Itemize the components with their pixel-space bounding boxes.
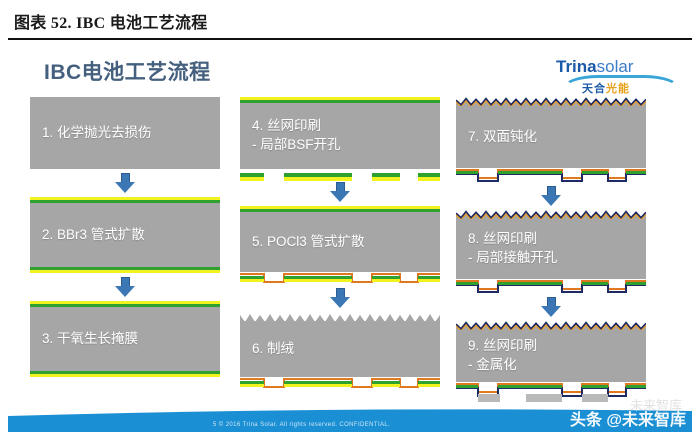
flow-arrow-5 xyxy=(330,288,350,308)
flow-arrow-8 xyxy=(541,297,561,317)
arrow-head xyxy=(115,182,135,193)
wafer-diagram-9: 9. 丝网印刷- 金属化 xyxy=(456,330,646,382)
process-step-5: 5. POCl3 管式扩散 xyxy=(240,206,440,284)
step-label-4: 4. 丝网印刷- 局部BSF开孔 xyxy=(252,117,341,155)
slide-canvas: IBC电池工艺流程 Trinasolar 天合光能 1. 化学抛光去损伤 2. … xyxy=(8,47,692,432)
film-yellow-bottom xyxy=(30,270,220,273)
process-step-8: 8. 丝网印刷- 局部接触开孔 xyxy=(456,210,646,293)
process-step-6: 6. 制绒 xyxy=(240,312,440,389)
logo-wordmark: Trinasolar xyxy=(556,57,633,77)
page-title: 图表 52. IBC 电池工艺流程 xyxy=(14,9,208,33)
step-label-8-line1: 8. 丝网印刷 xyxy=(468,231,537,246)
arrow-head xyxy=(541,306,561,317)
arrow-head xyxy=(115,286,135,297)
step-label-4-line1: 4. 丝网印刷 xyxy=(252,118,321,133)
process-column-1: 1. 化学抛光去损伤 2. BBr3 管式扩散 3. 干氧生长掩膜 xyxy=(30,97,220,377)
openings-svg xyxy=(240,173,440,182)
arrow-head xyxy=(541,195,561,206)
process-step-4: 4. 丝网印刷- 局部BSF开孔 xyxy=(240,97,440,178)
step-label-9-line1: 9. 丝网印刷 xyxy=(468,338,537,353)
process-column-2: 4. 丝网印刷- 局部BSF开孔 xyxy=(240,97,440,389)
rear-layers-svg xyxy=(456,168,646,182)
step-label-5: 5. POCl3 管式扩散 xyxy=(252,232,365,252)
wafer-diagram-6: 6. 制绒 xyxy=(240,321,440,377)
step-label-4-line2: - 局部BSF开孔 xyxy=(252,137,341,152)
flow-arrow-1 xyxy=(115,173,135,193)
metallization-9 xyxy=(456,382,646,402)
slide-title: IBC电池工艺流程 xyxy=(44,56,211,86)
rear-passivation-7 xyxy=(456,168,646,182)
slide-footer-text: 5 © 2016 Trina Solar. All rights reserve… xyxy=(213,422,390,428)
emitter-trenches-5 xyxy=(240,272,440,284)
wafer-diagram-3: 3. 干氧生长掩膜 xyxy=(30,307,220,371)
process-step-9: 9. 丝网印刷- 金属化 xyxy=(456,321,646,402)
contact-openings-8 xyxy=(456,279,646,293)
step-label-1: 1. 化学抛光去损伤 xyxy=(42,123,152,143)
header-divider xyxy=(8,38,692,40)
wafer-diagram-2: 2. BBr3 管式扩散 xyxy=(30,203,220,267)
wafer-diagram-5: 5. POCl3 管式扩散 xyxy=(240,212,440,272)
process-step-1: 1. 化学抛光去损伤 xyxy=(30,97,220,169)
flow-arrow-4 xyxy=(330,182,350,202)
step-label-8: 8. 丝网印刷- 局部接触开孔 xyxy=(468,230,557,268)
wafer-diagram-1: 1. 化学抛光去损伤 xyxy=(30,97,220,169)
process-step-3: 3. 干氧生长掩膜 xyxy=(30,301,220,377)
logo-chinese-second: 光能 xyxy=(606,83,630,95)
process-step-2: 2. BBr3 管式扩散 xyxy=(30,197,220,273)
step-label-3: 3. 干氧生长掩膜 xyxy=(42,329,138,349)
contact-openings-svg xyxy=(456,279,646,293)
arrow-head xyxy=(330,297,350,308)
step-label-8-line2: - 局部接触开孔 xyxy=(468,250,557,265)
step-label-9: 9. 丝网印刷- 金属化 xyxy=(468,337,537,375)
wafer-diagram-4: 4. 丝网印刷- 局部BSF开孔 xyxy=(240,103,440,169)
wafer-diagram-7: 7. 双面钝化 xyxy=(456,106,646,168)
step-label-6: 6. 制绒 xyxy=(252,339,294,359)
watermark: 头条 @未来智库 xyxy=(570,406,686,430)
bsf-openings-4 xyxy=(240,169,440,178)
logo-brand-first: Trina xyxy=(556,57,597,76)
trina-solar-logo: Trinasolar 天合光能 xyxy=(556,55,682,101)
film-yellow-bottom xyxy=(30,374,220,377)
step-label-2: 2. BBr3 管式扩散 xyxy=(42,225,145,245)
metal-pads-svg xyxy=(456,382,646,402)
process-column-3: 7. 双面钝化 xyxy=(456,97,646,402)
wafer-diagram-8: 8. 丝网印刷- 局部接触开孔 xyxy=(456,219,646,279)
arrow-head xyxy=(330,191,350,202)
process-step-7: 7. 双面钝化 xyxy=(456,97,646,182)
trenches-svg xyxy=(240,378,440,390)
flow-arrow-7 xyxy=(541,186,561,206)
logo-chinese-first: 天合 xyxy=(582,83,606,95)
step-label-7: 7. 双面钝化 xyxy=(468,127,537,147)
step-label-9-line2: - 金属化 xyxy=(468,357,517,372)
logo-chinese-name: 天合光能 xyxy=(582,80,630,96)
logo-brand-second: solar xyxy=(597,57,634,76)
emitter-trenches-6 xyxy=(240,377,440,389)
report-header: 图表 52. IBC 电池工艺流程 xyxy=(0,0,700,46)
trenches-svg xyxy=(240,273,440,285)
flow-arrow-2 xyxy=(115,277,135,297)
